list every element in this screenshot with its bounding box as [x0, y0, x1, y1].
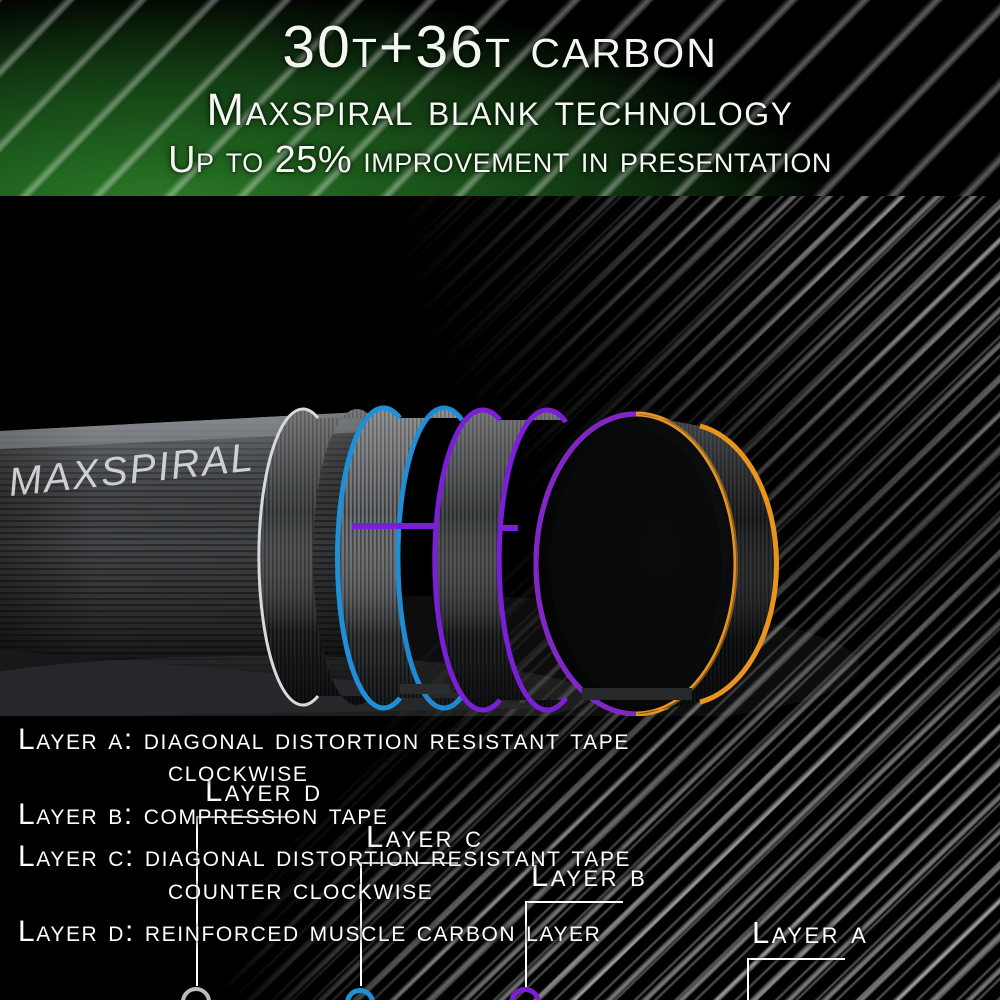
- legend-row-b: Layer B: Compression Tape: [18, 799, 986, 831]
- legend-text-continued: counter clockwise: [18, 874, 986, 906]
- legend-label: Layer D:: [18, 915, 145, 948]
- legend-row-a: Layer A: Diagonal distortion resistant t…: [18, 724, 986, 789]
- legend-row-d: Layer D: Reinforced muscle carbon layer: [18, 916, 986, 948]
- tube-svg: MAXSPIRAL: [0, 196, 1000, 716]
- page-subtitle: Maxspiral Blank Technology: [207, 87, 794, 132]
- legend-text: Diagonal distortion resistant tape: [144, 723, 630, 756]
- legend-text: Diagonal distortion resistant tape: [145, 840, 631, 873]
- legend-label: Layer C:: [18, 840, 145, 873]
- legend-label: Layer A:: [18, 723, 144, 756]
- tube-illustration: MAXSPIRAL Layer DLayer CLayer BLayer A: [0, 196, 1000, 716]
- legend-text: Reinforced muscle carbon layer: [145, 915, 602, 948]
- page-tagline: Up to 25% improvement in presentation: [168, 141, 832, 179]
- legend-list: Layer A: Diagonal distortion resistant t…: [0, 716, 1000, 1000]
- legend-label: Layer B:: [18, 798, 144, 831]
- legend-row-c: Layer C: Diagonal distortion resistant t…: [18, 841, 986, 906]
- legend-text-continued: clockwise: [18, 756, 986, 788]
- page-title: 30T+36T Carbon: [282, 18, 718, 77]
- header-text-block: 30T+36T Carbon Maxspiral Blank Technolog…: [0, 0, 1000, 196]
- header-banner: 30T+36T Carbon Maxspiral Blank Technolog…: [0, 0, 1000, 196]
- poster-canvas: 30T+36T Carbon Maxspiral Blank Technolog…: [0, 0, 1000, 1000]
- legend-text: Compression Tape: [144, 798, 389, 831]
